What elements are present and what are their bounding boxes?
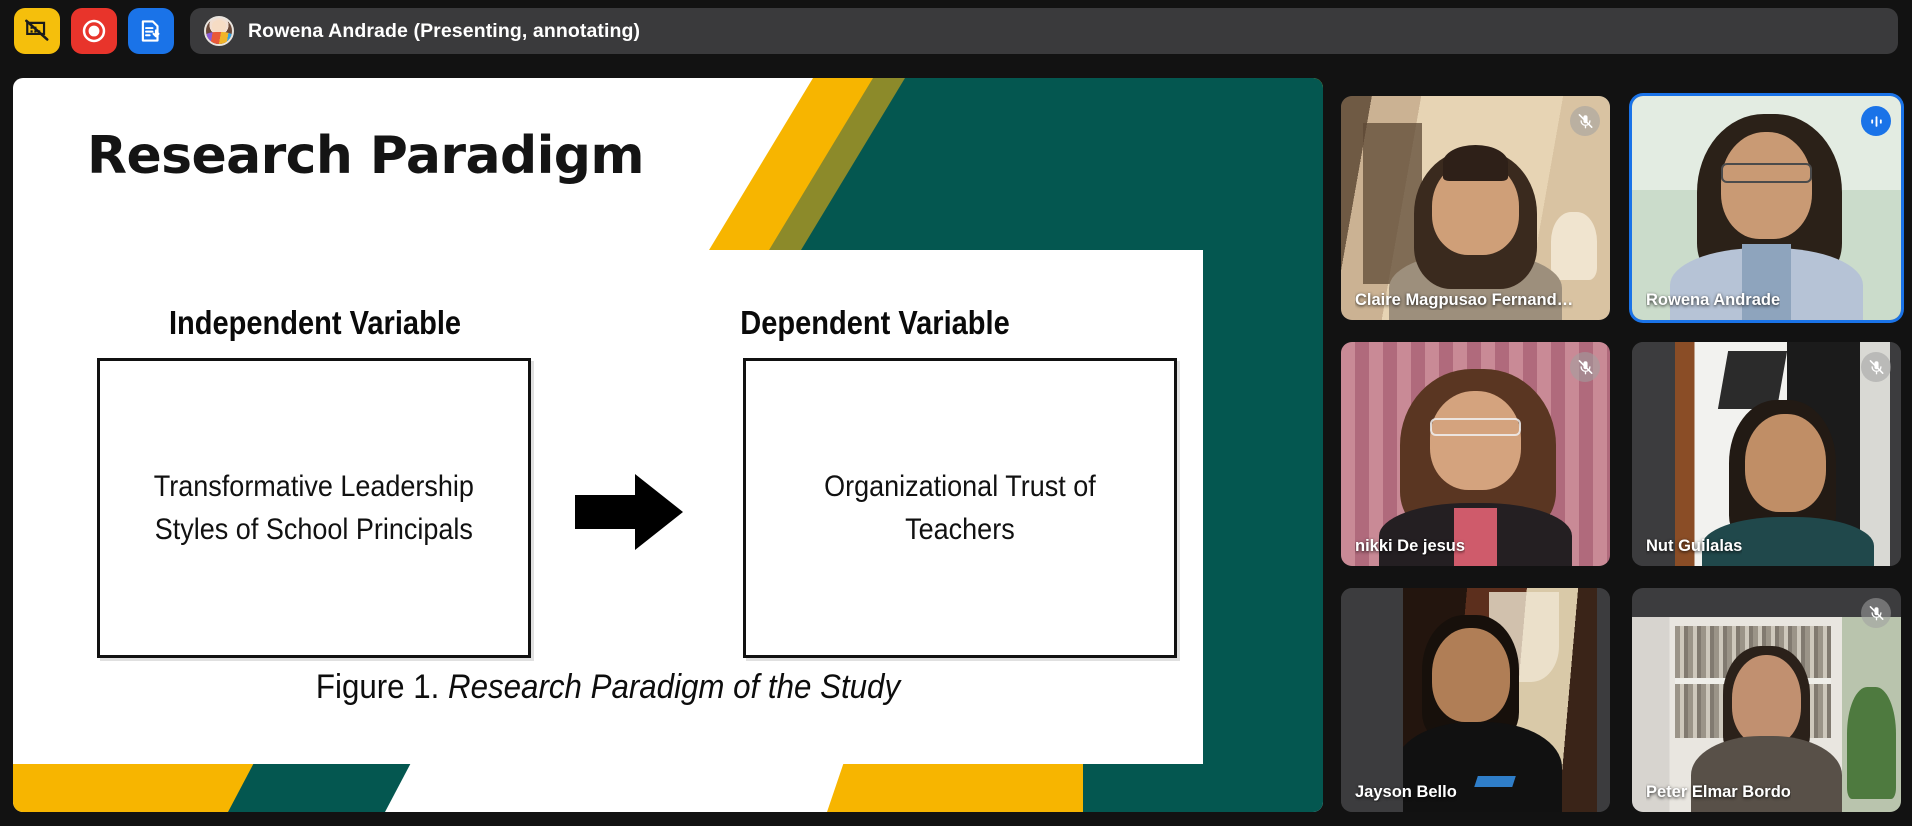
dependent-variable-heading: Dependent Variable	[681, 304, 1068, 342]
participant-name: Peter Elmar Bordo	[1646, 783, 1791, 802]
record-icon	[81, 18, 107, 44]
participant-tile[interactable]: Nut Guilalas	[1632, 342, 1901, 566]
microphone-muted-icon	[1868, 605, 1885, 622]
participant-name: Jayson Bello	[1355, 783, 1457, 802]
participant-tile[interactable]: Jayson Bello	[1341, 588, 1610, 812]
independent-variable-line2: Styles of School Principals	[155, 513, 473, 546]
participant-tile[interactable]: Rowena Andrade	[1632, 96, 1901, 320]
speaking-badge	[1861, 106, 1891, 136]
microphone-muted-icon	[1868, 359, 1885, 376]
independent-variable-line1: Transformative Leadership	[154, 470, 474, 503]
participant-video	[1341, 342, 1610, 566]
participant-video	[1341, 588, 1610, 812]
presenter-label: Rowena Andrade (Presenting, annotating)	[248, 20, 640, 43]
research-paradigm-figure: Independent Variable Transformative Lead…	[13, 250, 1203, 764]
participant-name: Claire Magpusao Fernand…	[1355, 291, 1573, 310]
participant-video	[1632, 588, 1901, 812]
document-audio-icon	[138, 18, 164, 44]
participant-name: Nut Guilalas	[1646, 537, 1742, 556]
meeting-toolbar: Rowena Andrade (Presenting, annotating)	[0, 0, 1912, 62]
mic-muted-badge	[1570, 352, 1600, 382]
meeting-screen: Rowena Andrade (Presenting, annotating) …	[0, 0, 1912, 826]
microphone-muted-icon	[1577, 113, 1594, 130]
audio-wave-icon	[1868, 113, 1885, 130]
relationship-arrow-icon	[575, 472, 685, 552]
participant-name: Rowena Andrade	[1646, 291, 1780, 310]
dependent-variable-line1: Organizational Trust of	[824, 470, 1096, 503]
page-title: Research Paradigm	[87, 126, 644, 186]
participant-grid: Claire Magpusao Fernand… Rowena Andrade	[1341, 96, 1901, 812]
microphone-muted-icon	[1577, 359, 1594, 376]
transcript-button[interactable]	[128, 8, 174, 54]
mic-muted-badge	[1570, 106, 1600, 136]
participant-video	[1632, 96, 1901, 320]
stop-screenshare-button[interactable]	[14, 8, 60, 54]
participant-name: nikki De jesus	[1355, 537, 1465, 556]
participant-video	[1341, 96, 1610, 320]
dependent-variable-box: Organizational Trust of Teachers	[743, 358, 1177, 658]
record-button[interactable]	[71, 8, 117, 54]
independent-variable-heading: Independent Variable	[121, 304, 508, 342]
independent-variable-box: Transformative Leadership Styles of Scho…	[97, 358, 531, 658]
figure-caption-prefix: Figure 1.	[316, 668, 439, 706]
screen-share-off-icon	[24, 18, 50, 44]
participant-tile[interactable]: nikki De jesus	[1341, 342, 1610, 566]
dependent-variable-line2: Teachers	[905, 513, 1015, 546]
shared-slide[interactable]: Research Paradigm Independent Variable T…	[13, 78, 1323, 812]
avatar	[204, 16, 234, 46]
figure-caption-title: Research Paradigm of the Study	[448, 668, 900, 706]
presenter-status-bar[interactable]: Rowena Andrade (Presenting, annotating)	[190, 8, 1898, 54]
figure-caption: Figure 1. Research Paradigm of the Study	[61, 668, 1156, 707]
participant-video	[1632, 342, 1901, 566]
participant-tile[interactable]: Claire Magpusao Fernand…	[1341, 96, 1610, 320]
mic-muted-badge	[1861, 598, 1891, 628]
mic-muted-badge	[1861, 352, 1891, 382]
participant-tile[interactable]: Peter Elmar Bordo	[1632, 588, 1901, 812]
